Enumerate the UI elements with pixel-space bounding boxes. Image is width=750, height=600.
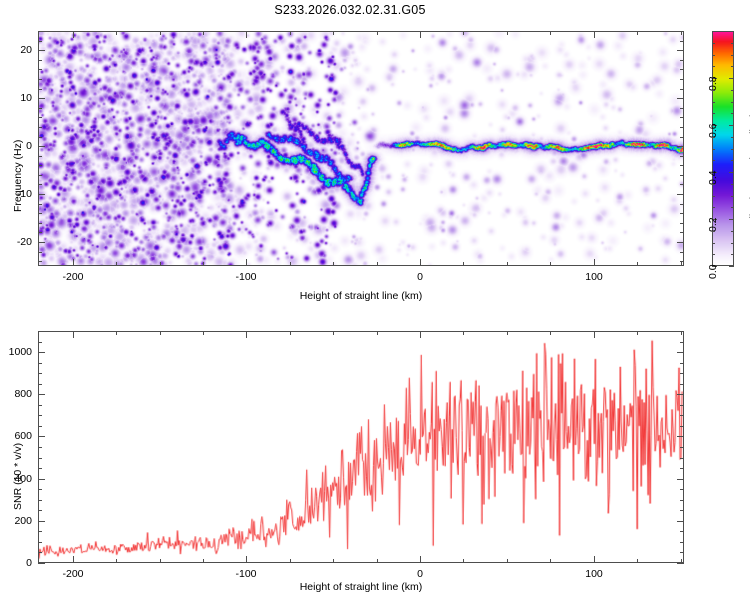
snr-canvas-wrap (39, 332, 683, 562)
axis-tick-label: 600 (14, 430, 32, 442)
axis-tick (116, 262, 117, 266)
axis-tick (680, 69, 684, 70)
axis-tick (712, 66, 715, 67)
page-title: S233.2026.032.02.31.G05 (0, 3, 700, 17)
axis-tick (38, 50, 45, 51)
axis-tick (731, 243, 734, 244)
axis-tick (680, 213, 684, 214)
axis-tick (680, 204, 684, 205)
axis-tick (712, 160, 715, 161)
axis-tick (116, 31, 117, 35)
axis-tick (712, 137, 715, 138)
axis-tick (680, 500, 684, 501)
axis-tick (377, 331, 378, 335)
axis-tick (333, 262, 334, 266)
axis-tick (677, 436, 684, 437)
axis-tick (38, 542, 42, 543)
axis-tick (712, 102, 715, 103)
axis-tick (246, 259, 247, 266)
axis-tick (680, 261, 684, 262)
axis-tick (38, 384, 42, 385)
axis-tick (507, 262, 508, 266)
axis-tick (38, 373, 42, 374)
axis-tick (680, 363, 684, 364)
axis-tick (507, 559, 508, 563)
axis-tick (38, 352, 45, 353)
axis-tick (680, 415, 684, 416)
axis-tick-label: -100 (235, 271, 256, 283)
colorbar-tick-label: 0.0 (707, 264, 719, 279)
axis-tick (731, 43, 734, 44)
axis-tick (594, 259, 595, 266)
axis-tick (637, 331, 638, 335)
colorbar-tick-label: 0.8 (707, 76, 719, 91)
axis-tick (680, 60, 684, 61)
axis-tick (38, 41, 42, 42)
axis-tick (160, 331, 161, 335)
axis-tick (677, 394, 684, 395)
axis-tick (681, 262, 682, 266)
axis-tick (680, 117, 684, 118)
axis-tick (680, 156, 684, 157)
axis-tick (38, 165, 42, 166)
axis-tick (38, 175, 42, 176)
figure-root: S233.2026.032.02.31.G05 -200-1000100-20-… (0, 0, 750, 600)
axis-tick (712, 196, 715, 197)
axis-tick (38, 563, 45, 564)
axis-tick (38, 342, 42, 343)
axis-tick (73, 31, 74, 38)
axis-tick (463, 331, 464, 335)
axis-tick (731, 184, 734, 185)
axis-tick (637, 31, 638, 35)
axis-tick (38, 510, 42, 511)
colorbar-tick-label: 0.4 (707, 170, 719, 185)
axis-tick-label: 20 (20, 44, 32, 56)
axis-tick-label: -200 (62, 271, 83, 283)
axis-tick (680, 342, 684, 343)
axis-tick (463, 262, 464, 266)
axis-tick (203, 559, 204, 563)
axis-tick (290, 559, 291, 563)
axis-tick (38, 436, 45, 437)
axis-tick (38, 363, 42, 364)
axis-tick-label: 0 (417, 271, 423, 283)
axis-tick (246, 331, 247, 338)
axis-tick (729, 172, 734, 173)
axis-tick (677, 50, 684, 51)
axis-tick (731, 160, 734, 161)
axis-tick (38, 156, 42, 157)
axis-tick (731, 113, 734, 114)
axis-tick (38, 79, 42, 80)
axis-tick (681, 331, 682, 335)
axis-tick (420, 31, 421, 38)
spectrogram-canvas-wrap (39, 32, 683, 265)
axis-tick (680, 447, 684, 448)
axis-tick (377, 559, 378, 563)
spectrogram-x-axis-label: Height of straight line (km) (0, 290, 722, 302)
axis-tick (116, 331, 117, 335)
axis-tick (38, 60, 42, 61)
axis-tick (712, 90, 715, 91)
axis-tick (680, 405, 684, 406)
axis-tick (712, 243, 715, 244)
axis-tick (550, 31, 551, 35)
axis-tick (333, 31, 334, 35)
axis-tick (73, 556, 74, 563)
axis-tick (680, 510, 684, 511)
axis-tick-label: -100 (235, 568, 256, 580)
axis-tick (712, 55, 715, 56)
axis-tick (38, 213, 42, 214)
axis-tick-label: 1000 (9, 346, 32, 358)
axis-tick (38, 479, 45, 480)
axis-tick (680, 542, 684, 543)
axis-tick (731, 149, 734, 150)
axis-tick (38, 489, 42, 490)
axis-tick (38, 223, 42, 224)
axis-tick (680, 426, 684, 427)
axis-tick (680, 531, 684, 532)
axis-tick-label: 0 (26, 557, 32, 569)
axis-tick (680, 223, 684, 224)
axis-tick (38, 89, 42, 90)
axis-tick (680, 232, 684, 233)
axis-tick (38, 415, 42, 416)
axis-tick (680, 468, 684, 469)
axis-tick (38, 232, 42, 233)
axis-tick (38, 468, 42, 469)
axis-tick (420, 331, 421, 338)
axis-tick (420, 259, 421, 266)
axis-tick (463, 31, 464, 35)
axis-tick (38, 531, 42, 532)
axis-tick (712, 113, 715, 114)
axis-tick-label: 0 (417, 568, 423, 580)
axis-tick (507, 31, 508, 35)
axis-tick (38, 521, 45, 522)
axis-tick (38, 146, 45, 147)
axis-tick (731, 90, 734, 91)
axis-tick (594, 331, 595, 338)
axis-tick (731, 196, 734, 197)
axis-tick (246, 31, 247, 38)
axis-tick-label: 0 (26, 140, 32, 152)
axis-tick (677, 479, 684, 480)
axis-tick (680, 89, 684, 90)
axis-tick (729, 219, 734, 220)
axis-tick (712, 184, 715, 185)
axis-tick (681, 31, 682, 35)
axis-tick (712, 254, 715, 255)
axis-tick (712, 231, 715, 232)
axis-tick (680, 384, 684, 385)
axis-tick (203, 262, 204, 266)
axis-tick (38, 261, 42, 262)
axis-tick (160, 262, 161, 266)
axis-tick-label: 800 (14, 388, 32, 400)
axis-tick (680, 79, 684, 80)
axis-tick (550, 262, 551, 266)
axis-tick (203, 331, 204, 335)
axis-tick (637, 262, 638, 266)
axis-tick (38, 184, 42, 185)
axis-tick (637, 559, 638, 563)
spectrogram-y-axis-label: Frequency (Hz) (12, 140, 24, 212)
axis-tick (680, 252, 684, 253)
axis-tick (731, 137, 734, 138)
axis-tick (290, 331, 291, 335)
axis-tick (203, 31, 204, 35)
axis-tick (594, 31, 595, 38)
axis-tick (38, 127, 42, 128)
axis-tick (550, 331, 551, 335)
axis-tick (38, 458, 42, 459)
axis-tick (677, 242, 684, 243)
axis-tick (290, 262, 291, 266)
axis-tick (73, 259, 74, 266)
axis-tick (38, 98, 45, 99)
axis-tick-label: 10 (20, 92, 32, 104)
axis-tick (38, 252, 42, 253)
axis-tick (680, 552, 684, 553)
axis-tick (463, 559, 464, 563)
axis-tick (729, 125, 734, 126)
axis-tick (680, 175, 684, 176)
axis-tick (333, 559, 334, 563)
axis-tick (677, 146, 684, 147)
axis-tick (680, 137, 684, 138)
axis-tick (290, 31, 291, 35)
axis-tick (246, 556, 247, 563)
axis-tick (712, 43, 715, 44)
axis-tick (731, 55, 734, 56)
axis-tick (729, 78, 734, 79)
axis-tick (38, 69, 42, 70)
axis-tick (38, 108, 42, 109)
axis-tick (731, 102, 734, 103)
axis-tick (677, 352, 684, 353)
axis-tick (38, 242, 45, 243)
spectrogram-plot-area (38, 31, 684, 266)
axis-tick-label: -20 (17, 236, 32, 248)
axis-tick (160, 31, 161, 35)
axis-tick (420, 556, 421, 563)
axis-tick (594, 556, 595, 563)
axis-tick (333, 331, 334, 335)
axis-tick (712, 207, 715, 208)
axis-tick (731, 66, 734, 67)
axis-tick (377, 31, 378, 35)
axis-tick (116, 559, 117, 563)
spectrogram-image (39, 32, 683, 265)
axis-tick (38, 204, 42, 205)
axis-tick (550, 559, 551, 563)
snr-y-axis-label: SNR (10 * v/v) (12, 443, 24, 510)
axis-tick (680, 458, 684, 459)
axis-tick (731, 231, 734, 232)
axis-tick (677, 194, 684, 195)
axis-tick (38, 394, 45, 395)
axis-tick (38, 447, 42, 448)
axis-tick (677, 563, 684, 564)
axis-tick (680, 127, 684, 128)
axis-tick (377, 262, 378, 266)
axis-tick (680, 373, 684, 374)
snr-x-axis-label: Height of straight line (km) (0, 581, 722, 593)
axis-tick (73, 331, 74, 338)
axis-tick (712, 149, 715, 150)
axis-tick (160, 559, 161, 563)
axis-tick (38, 405, 42, 406)
axis-tick (680, 184, 684, 185)
axis-tick (731, 207, 734, 208)
axis-tick (731, 254, 734, 255)
axis-tick (677, 521, 684, 522)
axis-tick (729, 266, 734, 267)
colorbar-tick-label: 0.2 (707, 217, 719, 232)
colorbar-tick-label: 0.6 (707, 123, 719, 138)
axis-tick (680, 41, 684, 42)
axis-tick (38, 194, 45, 195)
axis-tick-label: 100 (585, 271, 603, 283)
axis-tick (38, 426, 42, 427)
axis-tick-label: 100 (585, 568, 603, 580)
snr-line-series (39, 332, 683, 562)
axis-tick (507, 331, 508, 335)
axis-tick (680, 489, 684, 490)
axis-tick (677, 98, 684, 99)
axis-tick (38, 552, 42, 553)
axis-tick (680, 165, 684, 166)
snr-plot-area (38, 331, 684, 563)
axis-tick (38, 500, 42, 501)
axis-tick (38, 137, 42, 138)
axis-tick-label: -200 (62, 568, 83, 580)
axis-tick (680, 108, 684, 109)
axis-tick-label: 200 (14, 515, 32, 527)
axis-tick (38, 117, 42, 118)
